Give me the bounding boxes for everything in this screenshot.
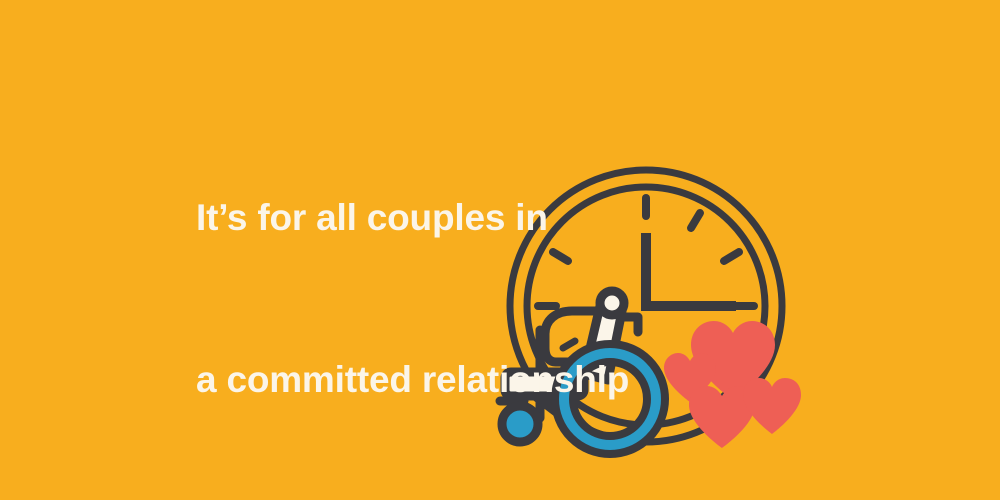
clock-tick-2 [724, 252, 739, 261]
page-headline: It’s for all couples in a committed rela… [196, 83, 716, 500]
headline-line-2: a committed relationship [196, 353, 716, 407]
headline-line-1: It’s for all couples in [196, 191, 716, 245]
banner-canvas: It’s for all couples in a committed rela… [0, 0, 1000, 500]
heart-small-right-icon [743, 378, 801, 434]
